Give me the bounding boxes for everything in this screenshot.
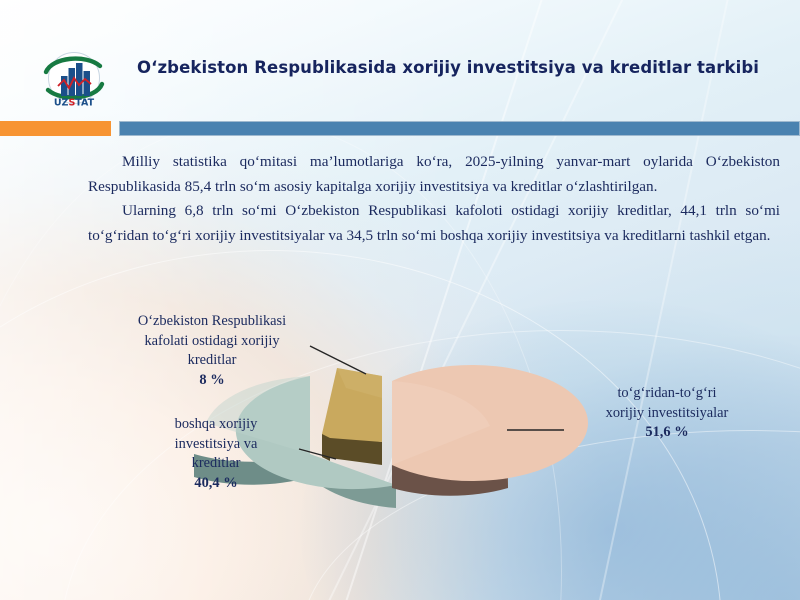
pie-label-direct-line2: xorijiy investitsiyalar: [606, 405, 729, 421]
pie-label-other-line2: investitsiya va: [175, 436, 258, 452]
pie-chart: O‘zbekiston Respublikasi kafolati ostida…: [0, 300, 800, 580]
body-paragraph-2: Ularning 6,8 trln so‘mi O‘zbekiston Resp…: [88, 199, 780, 248]
pie-label-other: boshqa xorijiy investitsiya va kreditlar…: [118, 415, 314, 493]
pie-slice-guaranteed: [322, 368, 382, 465]
pie-label-guaranteed-line2: kafolati ostidagi xorijiy: [144, 333, 279, 349]
page-title: O‘zbekiston Respublikasida xorijiy inves…: [118, 56, 778, 79]
pie-label-other-percent: 40,4 %: [118, 474, 314, 494]
pie-label-direct-line1: to‘g‘ridan-to‘g‘ri: [617, 385, 716, 401]
body-text: Milliy statistika qo‘mitasi ma’lumotlari…: [88, 150, 780, 248]
pie-label-other-line1: boshqa xorijiy: [175, 416, 258, 432]
uzstat-logo-icon: UZSTAT: [38, 50, 110, 110]
pie-label-other-line3: kreditlar: [192, 455, 241, 471]
pie-label-guaranteed-line3: kreditlar: [188, 352, 237, 368]
pie-label-guaranteed-line1: O‘zbekiston Respublikasi: [138, 313, 286, 329]
slide-canvas: UZSTAT O‘zbekiston Respublikasida xoriji…: [0, 0, 800, 600]
svg-text:UZSTAT: UZSTAT: [54, 98, 95, 109]
body-paragraph-1: Milliy statistika qo‘mitasi ma’lumotlari…: [88, 150, 780, 199]
slide-header: UZSTAT O‘zbekiston Respublikasida xoriji…: [0, 0, 800, 118]
pie-label-guaranteed-percent: 8 %: [96, 371, 328, 391]
pie-label-direct: to‘g‘ridan-to‘g‘ri xorijiy investitsiyal…: [548, 384, 786, 443]
divider-bar-orange: [0, 121, 111, 136]
pie-label-direct-percent: 51,6 %: [548, 423, 786, 443]
pie-label-guaranteed: O‘zbekiston Respublikasi kafolati ostida…: [96, 312, 328, 390]
divider-bar-blue: [119, 121, 800, 136]
